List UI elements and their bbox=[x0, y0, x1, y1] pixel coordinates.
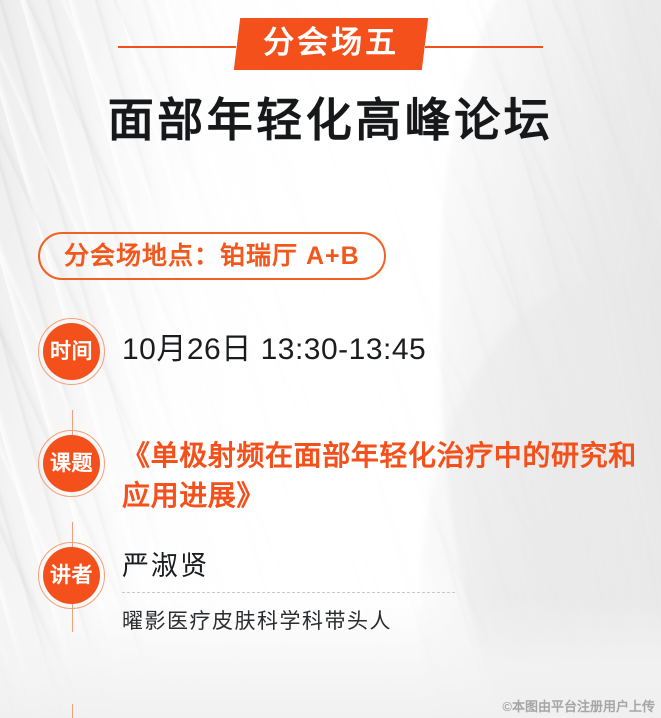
timeline-badge-time-label: 时间 bbox=[50, 341, 93, 362]
speaker-name: 严淑贤 bbox=[122, 542, 647, 582]
kicker-rule-left bbox=[118, 46, 236, 48]
timeline-badge-speaker-label: 讲者 bbox=[50, 565, 93, 586]
timeline-body-time: 10月26日 13:30-13:45 bbox=[122, 318, 647, 382]
kicker-badge: 分会场五 bbox=[233, 18, 427, 70]
timeline-connector-3 bbox=[72, 704, 74, 718]
venue-pill: 分会场地点：铂瑞厅 A+B bbox=[38, 232, 386, 280]
timeline-badge-topic: 课题 bbox=[38, 430, 105, 497]
session-poster: 分会场五 面部年轻化高峰论坛 分会场地点：铂瑞厅 A+B 时间 10月26日 1… bbox=[0, 0, 661, 718]
page-title: 面部年轻化高峰论坛 bbox=[0, 92, 661, 148]
speaker-divider bbox=[122, 592, 455, 593]
session-topic: 《单极射频在面部年轻化治疗中的研究和应用进展》 bbox=[122, 430, 647, 516]
kicker-band: 分会场五 bbox=[0, 18, 661, 74]
timeline-badge-time: 时间 bbox=[38, 318, 105, 385]
timeline-body-speaker: 严淑贤 曜影医疗皮肤科学科带头人 bbox=[122, 542, 647, 636]
upload-watermark: ©本图由平台注册用户上传 bbox=[502, 696, 655, 715]
kicker-badge-label: 分会场五 bbox=[263, 23, 399, 62]
session-datetime: 10月26日 13:30-13:45 bbox=[122, 318, 647, 382]
timeline-badge-topic-label: 课题 bbox=[50, 453, 93, 474]
venue-label: 分会场地点：铂瑞厅 A+B bbox=[64, 244, 360, 269]
session-timeline: 时间 10月26日 13:30-13:45 课题 《单极射频在面部年轻化治疗中的… bbox=[0, 318, 661, 718]
timeline-badge-speaker: 讲者 bbox=[38, 542, 105, 609]
timeline-body-topic: 《单极射频在面部年轻化治疗中的研究和应用进展》 bbox=[122, 430, 647, 516]
timeline-badge-speaker-fill: 讲者 bbox=[43, 547, 100, 604]
speaker-affiliation: 曜影医疗皮肤科学科带头人 bbox=[122, 608, 647, 635]
timeline-badge-topic-fill: 课题 bbox=[43, 435, 100, 492]
timeline-badge-time-fill: 时间 bbox=[43, 323, 100, 380]
kicker-rule-right bbox=[425, 46, 543, 48]
